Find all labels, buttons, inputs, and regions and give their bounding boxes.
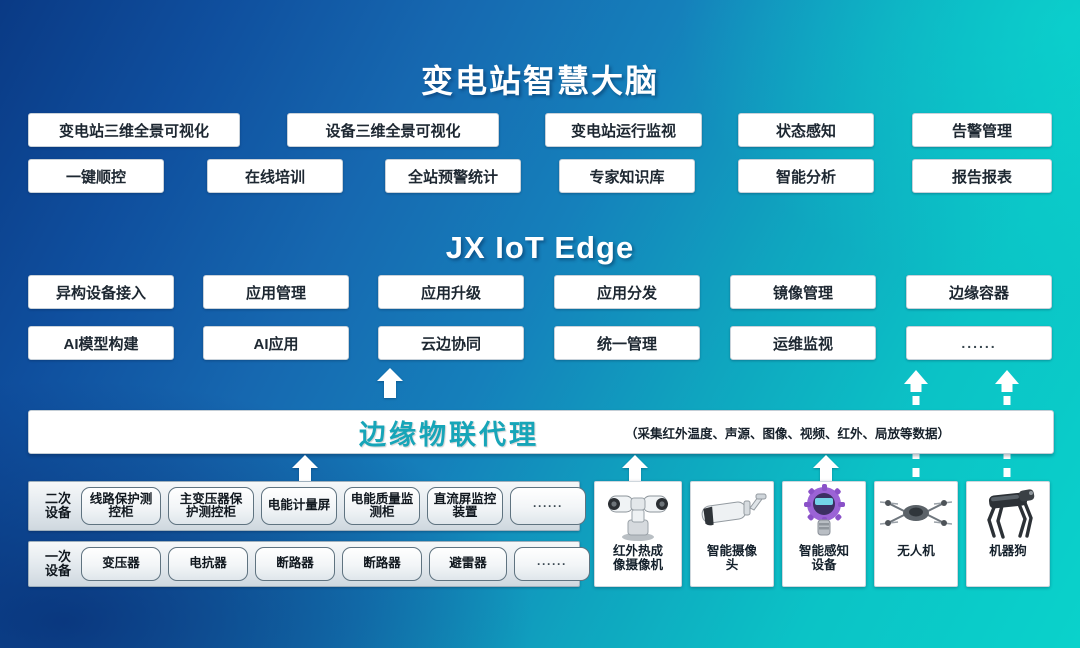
brain-card-11[interactable]: 报告报表 [912, 159, 1052, 193]
architecture-diagram: 变电站智慧大脑 变电站三维全景可视化 设备三维全景可视化 变电站运行监视 状态感… [0, 0, 1080, 648]
edge-card-4[interactable]: 应用分发 [554, 275, 700, 309]
primary-equipment-chip-2[interactable]: 电抗器 [168, 547, 248, 581]
brain-card-8[interactable]: 全站预警统计 [385, 159, 521, 193]
edge-card-9[interactable]: 云边协同 [378, 326, 524, 360]
edge-iot-agent-bar[interactable]: 边缘物联代理 （采集红外温度、声源、图像、视频、红外、局放等数据） [28, 410, 1054, 454]
device-card-thermal-camera[interactable]: 红外热成 像摄像机 [594, 481, 682, 587]
device-card-drone[interactable]: 无人机 [874, 481, 958, 587]
edge-card-7[interactable]: AI模型构建 [28, 326, 174, 360]
primary-equipment-chip-more[interactable]: ······ [514, 547, 590, 581]
secondary-equipment-chip-2[interactable]: 主变压器保 护测控柜 [168, 487, 254, 525]
secondary-equipment-panel: 二次 设备 线路保护测 控柜 主变压器保 护测控柜 电能计量屏 电能质量监 测柜… [28, 481, 580, 531]
device-card-label: 红外热成 像摄像机 [611, 544, 665, 576]
brain-card-1[interactable]: 变电站三维全景可视化 [28, 113, 240, 147]
edge-iot-agent-title: 边缘物联代理 [359, 413, 539, 452]
device-card-label: 无人机 [895, 544, 937, 562]
brain-card-6[interactable]: 一键顺控 [28, 159, 164, 193]
brain-card-7[interactable]: 在线培训 [207, 159, 343, 193]
secondary-equipment-chip-1[interactable]: 线路保护测 控柜 [81, 487, 161, 525]
primary-equipment-panel: 一次 设备 变压器 电抗器 断路器 断路器 避雷器 ······ [28, 541, 580, 587]
bullet-camera-icon [691, 482, 773, 544]
brain-card-9[interactable]: 专家知识库 [559, 159, 695, 193]
primary-equipment-label: 一次 设备 [35, 550, 81, 578]
primary-equipment-chip-4[interactable]: 断路器 [342, 547, 422, 581]
brain-card-3[interactable]: 变电站运行监视 [545, 113, 702, 147]
edge-card-3[interactable]: 应用升级 [378, 275, 524, 309]
brain-card-4[interactable]: 状态感知 [738, 113, 874, 147]
arrow-up-sensors-to-agent [622, 455, 648, 481]
primary-equipment-chip-3[interactable]: 断路器 [255, 547, 335, 581]
secondary-equipment-chip-more[interactable]: ······ [510, 487, 586, 525]
edge-card-6[interactable]: 边缘容器 [906, 275, 1052, 309]
device-card-label: 机器狗 [987, 544, 1029, 562]
device-card-smart-camera[interactable]: 智能摄像 头 [690, 481, 774, 587]
gas-sensor-icon [783, 482, 865, 544]
robot-dog-icon [967, 482, 1049, 544]
edge-card-2[interactable]: 应用管理 [203, 275, 349, 309]
edge-layer-title: JX IoT Edge [0, 230, 1080, 266]
device-card-label: 智能感知 设备 [797, 544, 851, 576]
secondary-equipment-chip-4[interactable]: 电能质量监 测柜 [344, 487, 420, 525]
arrow-up-agent-to-edge [377, 368, 403, 398]
device-card-label: 智能摄像 头 [705, 544, 759, 576]
brain-card-2[interactable]: 设备三维全景可视化 [287, 113, 499, 147]
secondary-equipment-label: 二次 设备 [35, 492, 81, 520]
primary-equipment-chip-1[interactable]: 变压器 [81, 547, 161, 581]
edge-card-11[interactable]: 运维监视 [730, 326, 876, 360]
drone-icon [875, 482, 957, 544]
edge-card-8[interactable]: AI应用 [203, 326, 349, 360]
brain-card-5[interactable]: 告警管理 [912, 113, 1052, 147]
edge-card-5[interactable]: 镜像管理 [730, 275, 876, 309]
secondary-equipment-chip-5[interactable]: 直流屏监控 装置 [427, 487, 503, 525]
device-card-smart-sensor[interactable]: 智能感知 设备 [782, 481, 866, 587]
secondary-equipment-chip-3[interactable]: 电能计量屏 [261, 487, 337, 525]
device-card-robot-dog[interactable]: 机器狗 [966, 481, 1050, 587]
primary-equipment-chip-5[interactable]: 避雷器 [429, 547, 507, 581]
edge-card-10[interactable]: 统一管理 [554, 326, 700, 360]
edge-card-1[interactable]: 异构设备接入 [28, 275, 174, 309]
brain-layer-title: 变电站智慧大脑 [0, 56, 1080, 102]
arrow-up-secondary-to-agent [292, 455, 318, 481]
thermal-ptz-camera-icon [595, 482, 681, 544]
edge-card-12[interactable]: ...... [906, 326, 1052, 360]
arrow-up-cameras-to-agent [813, 455, 839, 481]
edge-iot-agent-note: （采集红外温度、声源、图像、视频、红外、局放等数据） [625, 423, 950, 442]
brain-card-10[interactable]: 智能分析 [738, 159, 874, 193]
